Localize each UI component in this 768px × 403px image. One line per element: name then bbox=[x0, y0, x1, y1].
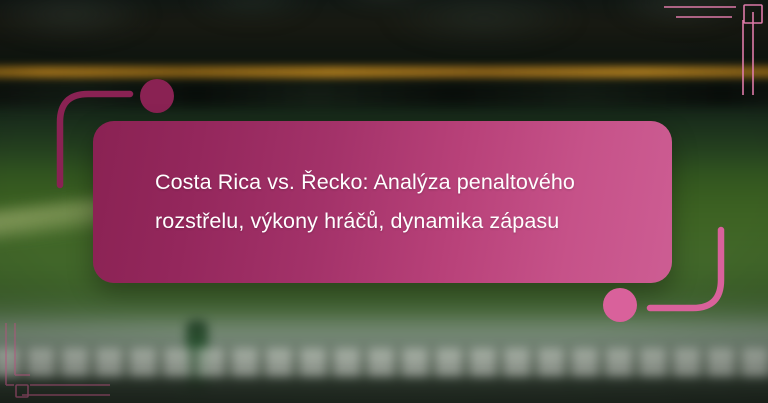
elbow-line-icon bbox=[650, 230, 721, 308]
hero-banner: Costa Rica vs. Řecko: Analýza penaltovéh… bbox=[0, 0, 768, 403]
corner-bracket-bottom-left-icon bbox=[0, 323, 110, 403]
circle-dot-icon bbox=[603, 288, 637, 322]
corner-bracket-top-right-icon bbox=[648, 0, 768, 95]
page-title: Costa Rica vs. Řecko: Analýza penaltovéh… bbox=[155, 163, 616, 241]
circle-dot-icon bbox=[140, 79, 174, 113]
decoration-bottom-right bbox=[590, 222, 730, 330]
article-title-card[interactable]: Costa Rica vs. Řecko: Analýza penaltovéh… bbox=[93, 121, 672, 283]
